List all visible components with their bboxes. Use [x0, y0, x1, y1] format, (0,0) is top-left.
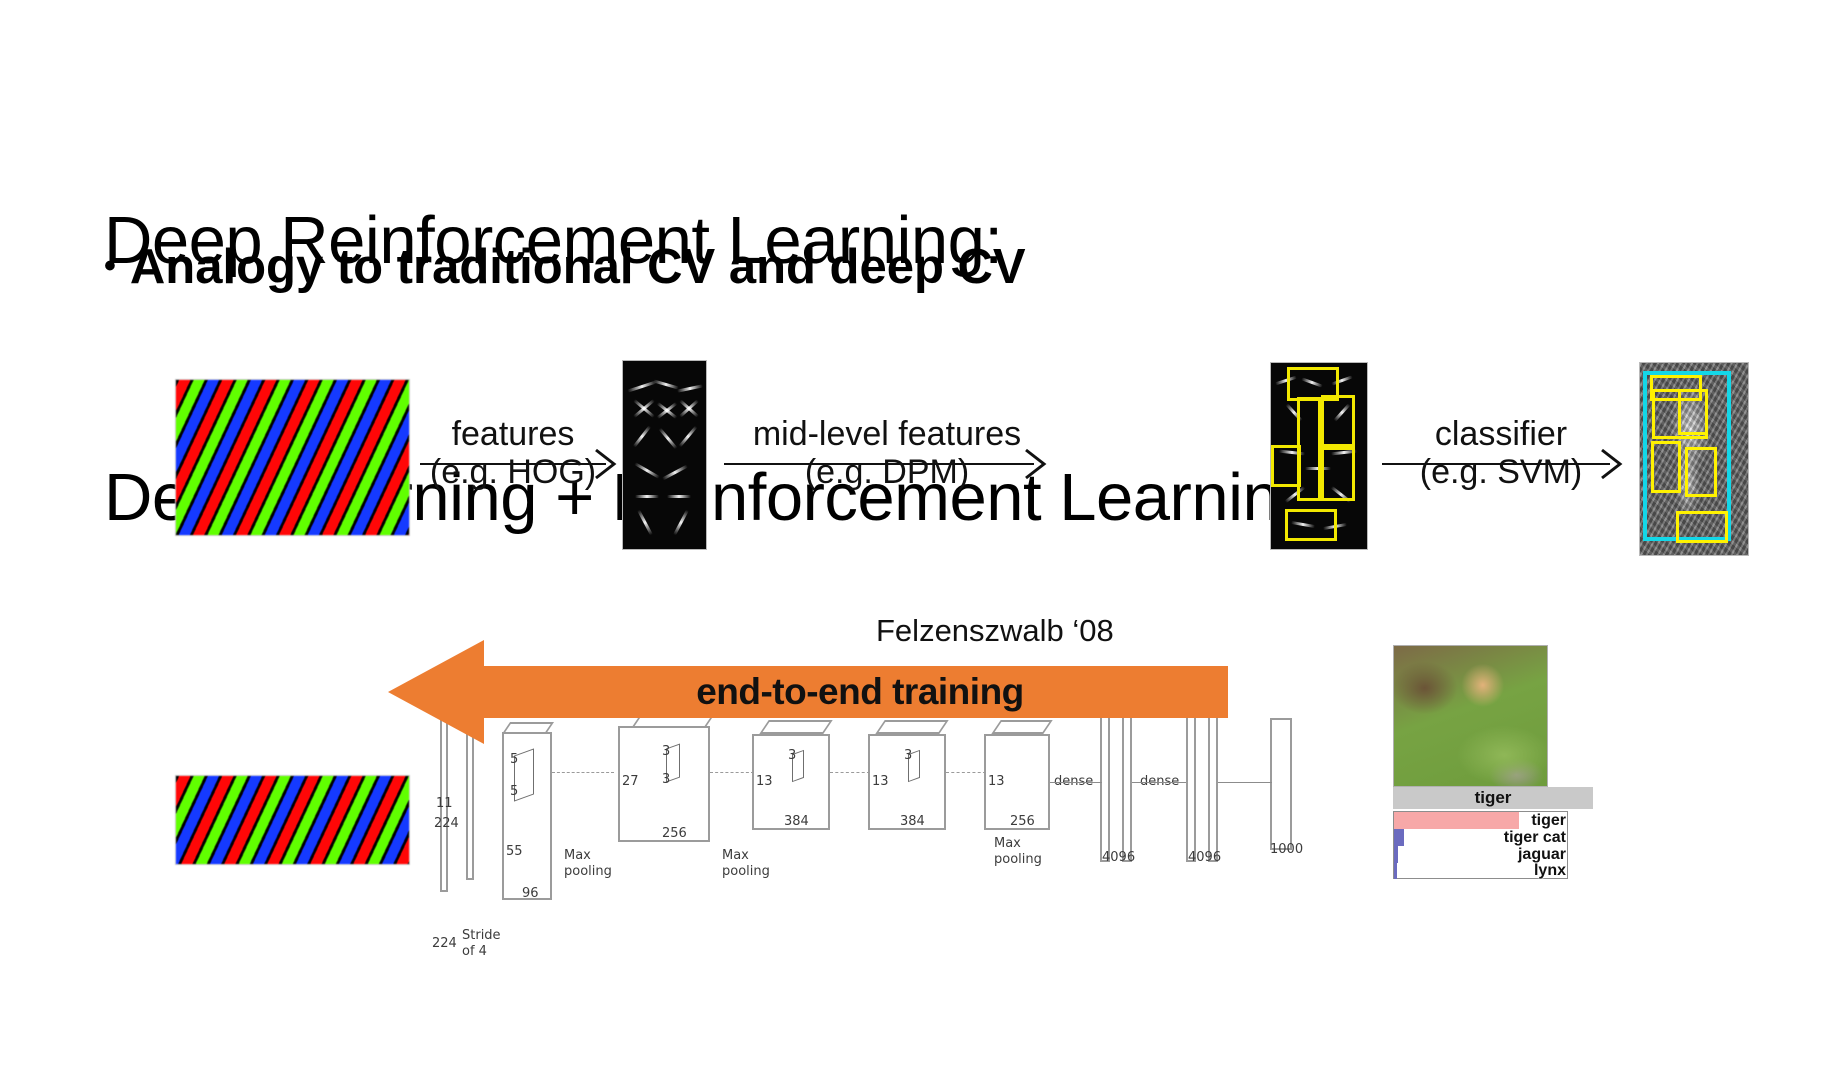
detection-result-image: [1639, 362, 1749, 556]
cnn-label-conv4-size: 13: [872, 774, 889, 789]
end-to-end-training-label: end-to-end training: [540, 668, 1180, 716]
dpm-part-box: [1271, 445, 1301, 487]
cnn-label-kernel-5a: 5: [510, 752, 518, 767]
dpm-part-model-image: [1270, 362, 1368, 550]
cnn-label-conv2-size: 27: [622, 774, 639, 789]
arrow-head-midlevel: [1022, 444, 1048, 484]
cnn-connector: [1050, 782, 1102, 783]
arrow-label-features: features (e.g. HOG): [418, 415, 608, 491]
dpm-part-box: [1321, 395, 1355, 447]
prediction-row: lynx: [1394, 863, 1568, 879]
prediction-row: jaguar: [1394, 846, 1568, 863]
tiger-photo-caption: tiger: [1393, 787, 1593, 809]
cnn-label-input-height: 224: [434, 816, 459, 831]
cnn-output-column: [1270, 718, 1292, 850]
cnn-label-fc2: 4096: [1188, 850, 1221, 865]
arrow-label-midlevel-top: mid-level features: [722, 415, 1052, 453]
cnn-label-kernel-3c: 3: [788, 748, 796, 763]
dpm-part-box: [1321, 447, 1355, 501]
cnn-label-conv4-depth: 384: [900, 814, 925, 829]
prediction-label: jaguar: [1518, 846, 1566, 864]
list-item: • Analogy to traditional CV and deep CV: [104, 238, 1604, 297]
arrow-shaft-classifier: [1382, 463, 1610, 465]
cnn-label-conv1-size: 55: [506, 844, 523, 859]
cnn-label-kernel-3a: 3: [662, 744, 670, 759]
arrow-shaft-features: [420, 463, 606, 465]
arrow-label-classifier: classifier (e.g. SVM): [1380, 415, 1622, 491]
cnn-label-kernel-3d: 3: [904, 748, 912, 763]
cnn-label-conv5-depth: 256: [1010, 814, 1035, 829]
cnn-label-conv1-depth: 96: [522, 886, 539, 901]
detection-box-part: [1651, 441, 1681, 493]
cnn-label-fc1: 4096: [1102, 850, 1135, 865]
cnn-label-conv3-depth: 384: [784, 814, 809, 829]
prediction-bar: [1394, 812, 1519, 829]
cnn-label-conv3-size: 13: [756, 774, 773, 789]
cnn-flow-dash: [710, 772, 754, 773]
cnn-connector: [1218, 782, 1272, 783]
arrow-head-classifier: [1598, 444, 1624, 484]
arrow-label-features-top: features: [418, 415, 608, 453]
prediction-bar: [1394, 846, 1398, 863]
detection-box-part: [1685, 447, 1717, 497]
bullet-text: Analogy to traditional CV and deep CV: [130, 238, 1026, 297]
arrow-label-classifier-top: classifier: [1380, 415, 1622, 453]
cnn-label-conv2-depth: 256: [662, 826, 687, 841]
hog-feature-image: [622, 360, 707, 550]
cnn-flow-dash: [946, 772, 986, 773]
prediction-bar: [1394, 829, 1404, 846]
page-title: Deep Reinforcement Learning: Deep Learni…: [104, 26, 1754, 626]
cnn-label-maxpool-1: Max pooling: [564, 848, 612, 881]
prediction-label: tiger: [1531, 812, 1566, 830]
cnn-label-stride: Stride of 4: [462, 928, 501, 961]
cnn-label-kernel-5b: 5: [510, 784, 518, 799]
traditional-input-image: [175, 379, 410, 536]
prediction-label: tiger cat: [1504, 829, 1566, 847]
cnn-label-kernel-3b: 3: [662, 772, 670, 787]
prediction-row: tiger cat: [1394, 829, 1568, 846]
detection-box-part: [1678, 389, 1708, 435]
arrow-label-midlevel: mid-level features (e.g. DPM): [722, 415, 1052, 491]
cnn-label-conv5-size: 13: [988, 774, 1005, 789]
arrow-head-features: [592, 444, 618, 484]
arrow-label-classifier-bottom: (e.g. SVM): [1380, 453, 1622, 491]
arrow-label-features-bottom: (e.g. HOG): [418, 453, 608, 491]
cnn-flow-dash: [830, 772, 870, 773]
dpm-part-box: [1285, 509, 1337, 541]
cnn-label-kernel-11a: 11: [436, 796, 453, 811]
arrow-label-midlevel-bottom: (e.g. DPM): [722, 453, 1052, 491]
cnn-connector: [1132, 782, 1186, 783]
cnn-label-output: 1000: [1270, 842, 1303, 857]
bullet-marker-icon: •: [104, 249, 116, 283]
arrow-shaft-midlevel: [724, 463, 1034, 465]
prediction-row: tiger: [1394, 812, 1568, 829]
tiger-photo: [1393, 645, 1548, 787]
detection-box-part: [1676, 511, 1728, 543]
prediction-label: lynx: [1534, 862, 1566, 880]
bullet-list: • Analogy to traditional CV and deep CV: [104, 238, 1604, 297]
prediction-bar: [1394, 863, 1397, 879]
classification-panel: tiger tiger tiger cat jaguar lynx: [1393, 645, 1593, 880]
cnn-flow-dash: [552, 772, 614, 773]
cnn-label-maxpool-3: Max pooling: [994, 836, 1042, 869]
deep-input-image: [175, 775, 410, 865]
cnn-label-maxpool-2: Max pooling: [722, 848, 770, 881]
cnn-label-input-width: 224: [432, 936, 457, 951]
